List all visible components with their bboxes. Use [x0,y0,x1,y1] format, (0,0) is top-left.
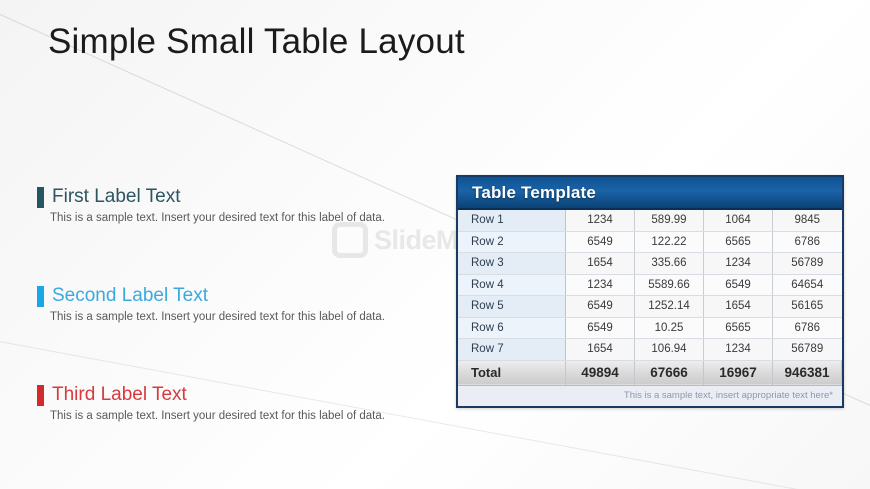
table-row: Row 565491252.14165456165 [458,296,842,318]
page-title: Simple Small Table Layout [48,22,465,62]
table-cell: 1234 [566,274,635,296]
table-cell: 106.94 [635,339,704,361]
table-row-label: Row 5 [458,296,566,318]
label-title: Third Label Text [52,384,187,406]
table-cell: 56789 [773,339,842,361]
table-cell: 122.22 [635,231,704,253]
table-cell: 1252.14 [635,296,704,318]
table-cell: 6549 [704,274,773,296]
label-title: First Label Text [52,186,180,208]
data-table: Row 11234589.9910649845Row 26549122.2265… [458,210,842,386]
table-cell: 6549 [566,317,635,339]
table-row: Row 31654335.66123456789 [458,253,842,275]
label-description: This is a sample text. Insert your desir… [50,410,437,422]
table-footer: This is a sample text, insert appropriat… [458,386,842,406]
table-cell: 56789 [773,253,842,275]
table-cell: 1234 [566,210,635,231]
table-cell: 589.99 [635,210,704,231]
label-bullet-icon [37,385,44,406]
table-cell: 335.66 [635,253,704,275]
label-head: Third Label Text [37,383,437,407]
table-cell: 9845 [773,210,842,231]
table-cell: 1654 [704,296,773,318]
table-cell: 5589.66 [635,274,704,296]
table-row-label: Row 6 [458,317,566,339]
table-cell: 1234 [704,253,773,275]
table-row: Row 412345589.66654964654 [458,274,842,296]
table-row: Row 71654106.94123456789 [458,339,842,361]
label-description: This is a sample text. Insert your desir… [50,311,437,323]
table-footer-note: This is a sample text, insert appropriat… [624,390,833,401]
table-cell: 6786 [773,317,842,339]
table-cell: 1064 [704,210,773,231]
table-cell: 1234 [704,339,773,361]
label-head: First Label Text [37,185,437,209]
table-cell: 6565 [704,317,773,339]
table-total-label: Total [458,360,566,385]
table-header-title: Table Template [472,183,596,203]
label-block-second: Second Label Text This is a sample text.… [37,284,437,323]
label-description: This is a sample text. Insert your desir… [50,212,437,224]
table-row-label: Row 2 [458,231,566,253]
table-header: Table Template [458,177,842,210]
table-cell: 1654 [566,339,635,361]
label-list: First Label Text This is a sample text. … [37,185,437,422]
table-total-cell: 946381 [773,360,842,385]
table-cell: 6786 [773,231,842,253]
table-body: Row 11234589.9910649845Row 26549122.2265… [458,210,842,385]
table-total-cell: 49894 [566,360,635,385]
table-cell: 6549 [566,231,635,253]
table-cell: 6549 [566,296,635,318]
label-bullet-icon [37,187,44,208]
table-total-row: Total498946766616967946381 [458,360,842,385]
table-cell: 1654 [566,253,635,275]
table-card: Table Template Row 11234589.9910649845Ro… [456,175,844,408]
table-cell: 6565 [704,231,773,253]
label-bullet-icon [37,286,44,307]
label-title: Second Label Text [52,285,208,307]
label-head: Second Label Text [37,284,437,308]
table-row: Row 26549122.2265656786 [458,231,842,253]
table-row: Row 11234589.9910649845 [458,210,842,231]
table-total-cell: 16967 [704,360,773,385]
table-row-label: Row 7 [458,339,566,361]
slide: SlideModel .com Simple Small Table Layou… [0,0,870,489]
label-block-third: Third Label Text This is a sample text. … [37,383,437,422]
table-cell: 10.25 [635,317,704,339]
table-cell: 64654 [773,274,842,296]
table-total-cell: 67666 [635,360,704,385]
table-row-label: Row 1 [458,210,566,231]
table-row-label: Row 4 [458,274,566,296]
table-row: Row 6654910.2565656786 [458,317,842,339]
table-row-label: Row 3 [458,253,566,275]
label-block-first: First Label Text This is a sample text. … [37,185,437,224]
table-cell: 56165 [773,296,842,318]
